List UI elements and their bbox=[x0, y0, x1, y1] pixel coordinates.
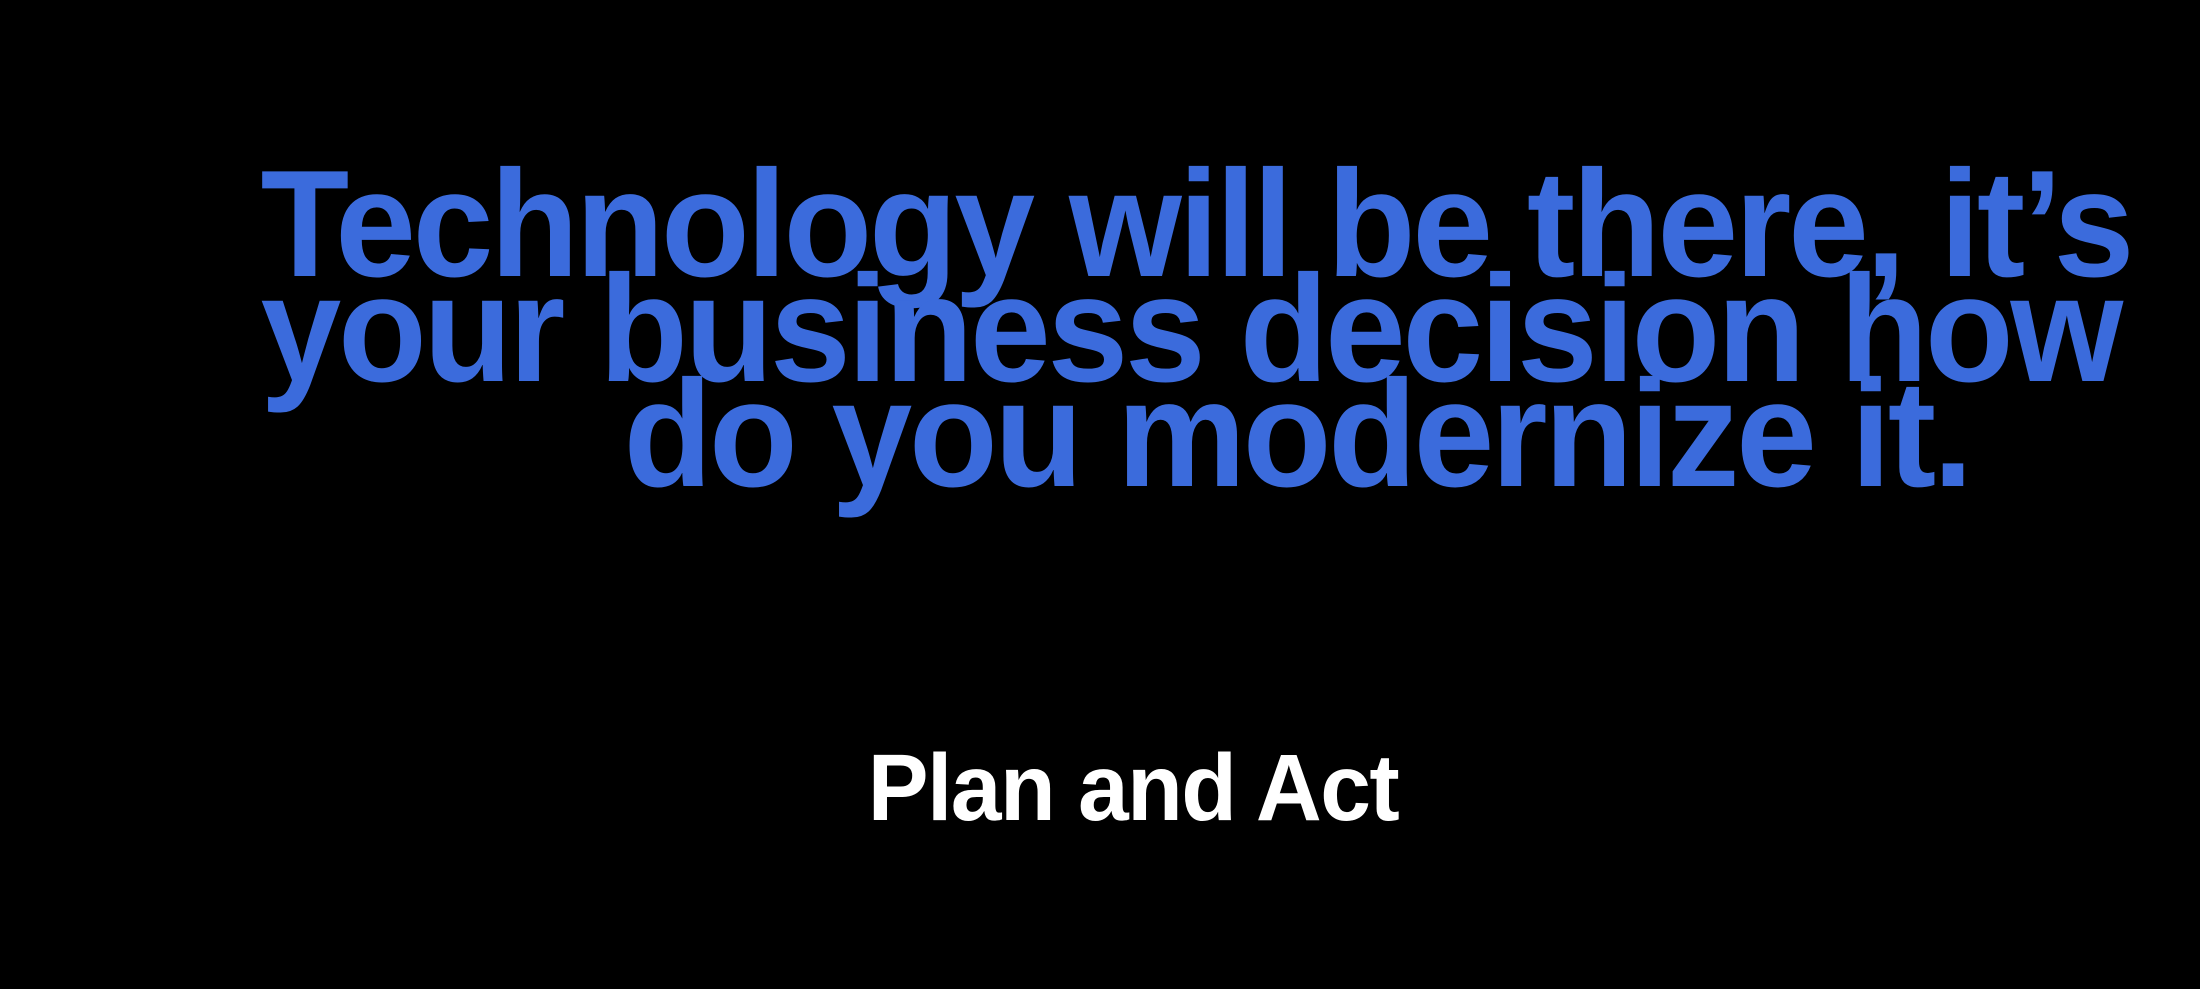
subtitle: Plan and Act bbox=[0, 738, 2200, 838]
subtitle-text: Plan and Act bbox=[867, 738, 1398, 838]
headline-quote: Technology will be there, it’s your busi… bbox=[180, 118, 1970, 487]
headline-line-3: do you modernize it. bbox=[261, 382, 1970, 487]
slide-canvas: Technology will be there, it’s your busi… bbox=[0, 0, 2200, 989]
